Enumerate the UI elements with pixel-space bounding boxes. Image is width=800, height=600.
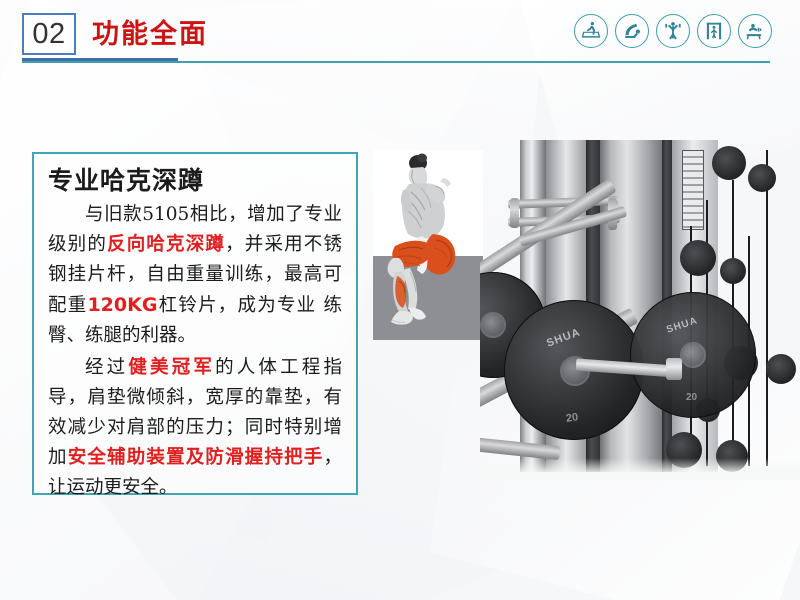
- paragraph2-highlight-2: 安全辅助装置及防滑握持把手: [68, 447, 324, 468]
- plate-brand: SHUA: [545, 326, 582, 349]
- fitness-icon-row: [574, 14, 772, 48]
- paragraph2-segment-1: 经过: [85, 357, 128, 378]
- pulley: [766, 354, 796, 384]
- pulley: [720, 258, 746, 284]
- slide-canvas: 02 功能全面: [0, 0, 800, 600]
- plate-brand: SHUA: [665, 315, 699, 335]
- squat-muscle-anatomy-illustration: [373, 150, 483, 340]
- plate-hub: [480, 312, 506, 338]
- barbell-collar: [666, 358, 682, 380]
- treadmill-icon: [574, 14, 608, 48]
- exercise-bike-icon: [615, 14, 649, 48]
- card-paragraph-2: 经过健美冠军的人体工程指导，肩垫微倾斜，宽厚的靠垫，有效减少对肩部的压力；同时特…: [48, 353, 342, 503]
- section-number: 02: [32, 20, 65, 49]
- plate-weight-label: 20: [686, 392, 697, 403]
- pulley: [748, 164, 776, 192]
- cable: [766, 150, 768, 466]
- pulley: [680, 240, 716, 276]
- content-card: 专业哈克深蹲 与旧款5105相比，增加了专业级别的反向哈克深蹲，并采用不锈钢挂片…: [32, 152, 358, 495]
- rack-post: [510, 198, 519, 228]
- weight-stack-plates: [682, 150, 704, 230]
- card-paragraph-1: 与旧款5105相比，增加了专业级别的反向哈克深蹲，并采用不锈钢挂片杆，自由重量训…: [48, 200, 342, 351]
- section-number-box: 02: [22, 13, 76, 55]
- bench-press-icon: [738, 14, 772, 48]
- slide-header: 02 功能全面: [0, 0, 800, 72]
- paragraph1-highlight-1: 反向哈克深蹲: [107, 234, 225, 255]
- person-lifting-icon: [656, 14, 690, 48]
- paragraph2-highlight-1: 健美冠军: [128, 357, 215, 378]
- card-title: 专业哈克深蹲: [48, 164, 342, 198]
- hack-squat-machine-photo: SHUA 20 SHUA 20 SHUA 20: [480, 140, 800, 480]
- anatomy-figure: [373, 150, 483, 340]
- page-title: 功能全面: [92, 16, 208, 54]
- paragraph1-highlight-2: 120KG: [87, 294, 157, 316]
- plate-weight-label: 20: [565, 411, 579, 425]
- pulley: [712, 146, 746, 180]
- power-rack-icon: [697, 14, 731, 48]
- weight-plate: SHUA 20: [630, 292, 756, 418]
- plate-hub: [680, 342, 706, 368]
- header-rule: [22, 61, 770, 63]
- photo-bottom-fade: [480, 458, 800, 480]
